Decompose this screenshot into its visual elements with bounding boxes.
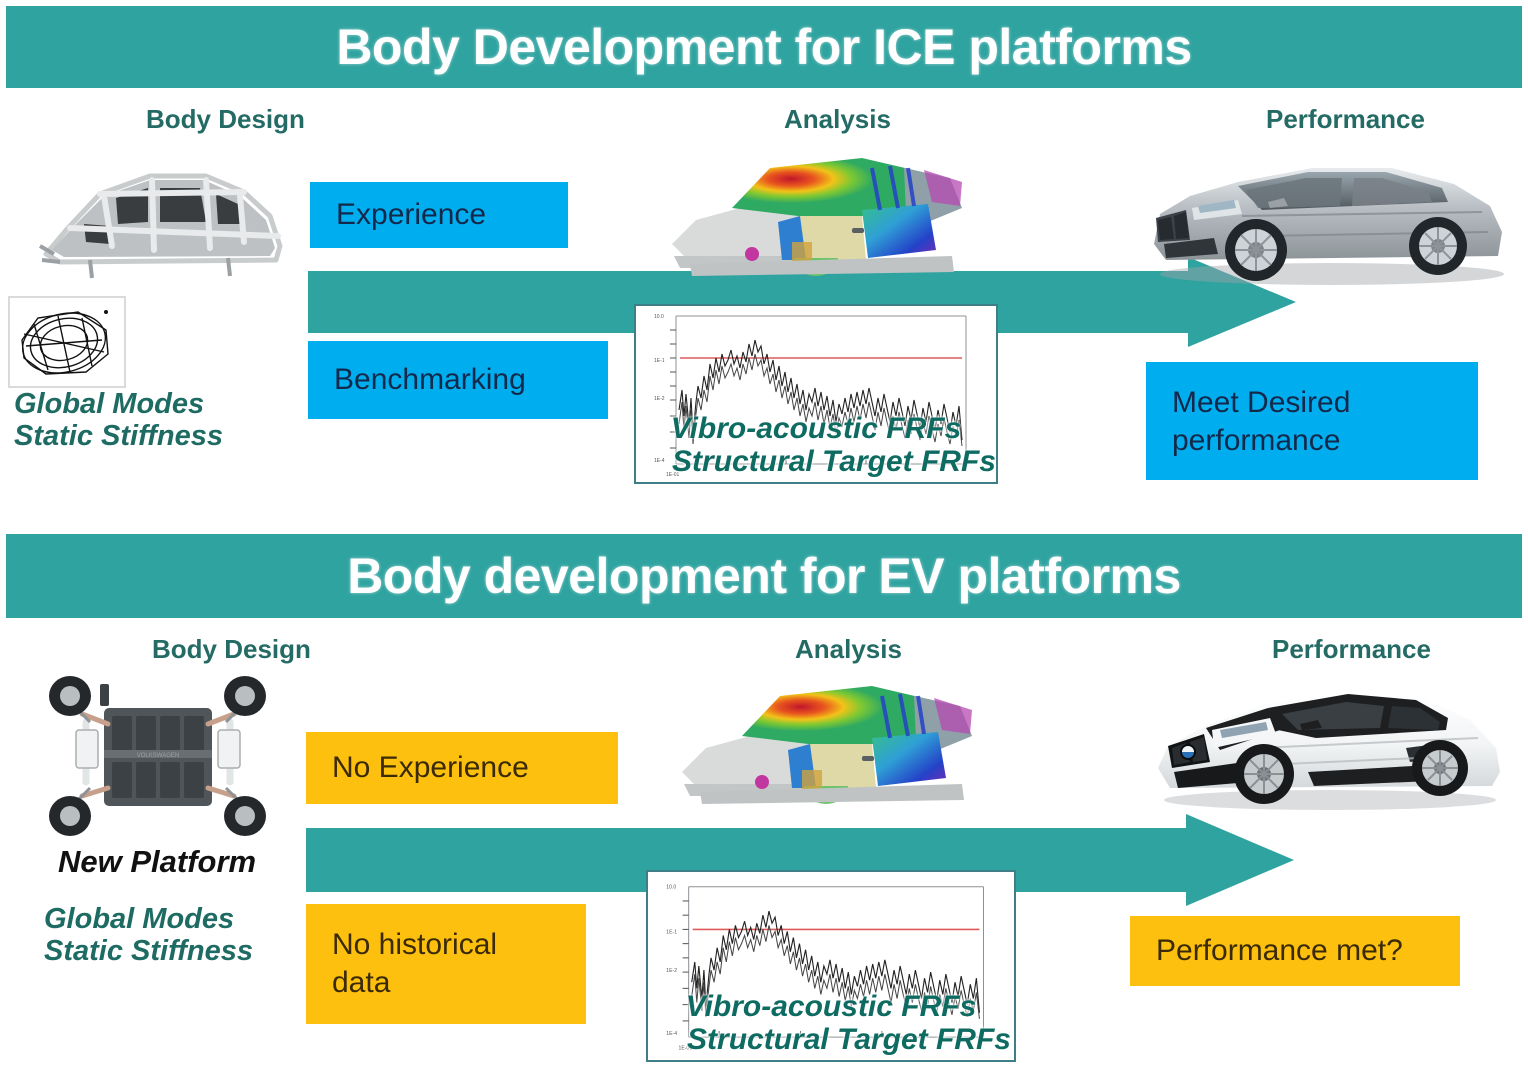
- svg-text:1E-01: 1E-01: [666, 472, 680, 478]
- svg-text:1E-2: 1E-2: [654, 396, 665, 402]
- svg-text:10.0: 10.0: [654, 314, 664, 320]
- ev-column-label-analysis: Analysis: [795, 634, 902, 665]
- svg-text:1E-1: 1E-1: [666, 929, 677, 935]
- ice-banner: Body Development for ICE platforms: [6, 6, 1522, 88]
- ice-experience-box[interactable]: Experience: [310, 182, 568, 248]
- ice-column-label-performance: Performance: [1266, 104, 1425, 135]
- ice-frf-chart-panel: 10.0 1E-1 1E-2 1E-4 1E-01 Vibro-acoustic…: [634, 304, 998, 484]
- ice-benchmarking-box[interactable]: Benchmarking: [308, 341, 608, 419]
- ice-global-mode-wireframe-image: [8, 296, 126, 388]
- ev-new-platform-caption: New Platform: [58, 845, 256, 880]
- ev-frf-chart-panel: 10.0 1E-1 1E-2 1E-4 1E-01 Vibro-acoustic…: [646, 870, 1016, 1062]
- svg-text:10.0: 10.0: [666, 885, 676, 891]
- ice-outcome-box[interactable]: Meet Desired performance: [1146, 362, 1478, 480]
- ice-body-design-caption: Global Modes Static Stiffness: [14, 388, 223, 453]
- svg-text:VOLKSWAGEN: VOLKSWAGEN: [137, 753, 179, 759]
- ev-banner-title: Body development for EV platforms: [347, 547, 1181, 605]
- ev-performance-car-image: [1148, 668, 1508, 818]
- ice-platform-section: Body Development for ICE platforms Body …: [0, 0, 1528, 518]
- ev-skateboard-platform-image: VOLKSWAGEN: [42, 670, 272, 845]
- ev-column-label-performance: Performance: [1272, 634, 1431, 665]
- svg-text:1E-2: 1E-2: [666, 968, 677, 974]
- ev-outcome-box[interactable]: Performance met?: [1130, 916, 1460, 986]
- ice-fea-analysis-car-image: [666, 138, 976, 280]
- svg-text:1E-4: 1E-4: [654, 458, 665, 464]
- ev-fea-analysis-car-image: [676, 666, 986, 808]
- ev-banner: Body development for EV platforms: [6, 534, 1522, 618]
- ice-banner-title: Body Development for ICE platforms: [336, 18, 1191, 76]
- ice-column-label-body-design: Body Design: [146, 104, 305, 135]
- ev-body-design-caption: Global Modes Static Stiffness: [44, 903, 253, 968]
- ev-platform-section: Body development for EV platforms Body D…: [0, 518, 1528, 1081]
- ev-no-experience-box[interactable]: No Experience: [306, 732, 618, 804]
- ev-no-historical-data-box[interactable]: No historical data: [306, 904, 586, 1024]
- svg-text:1E-01: 1E-01: [679, 1045, 693, 1051]
- svg-text:1E-1: 1E-1: [654, 358, 665, 364]
- svg-text:1E-4: 1E-4: [666, 1031, 677, 1037]
- ev-column-label-body-design: Body Design: [152, 634, 311, 665]
- ice-body-in-white-image: [30, 150, 300, 285]
- ice-performance-car-image: [1142, 140, 1512, 290]
- ice-column-label-analysis: Analysis: [784, 104, 891, 135]
